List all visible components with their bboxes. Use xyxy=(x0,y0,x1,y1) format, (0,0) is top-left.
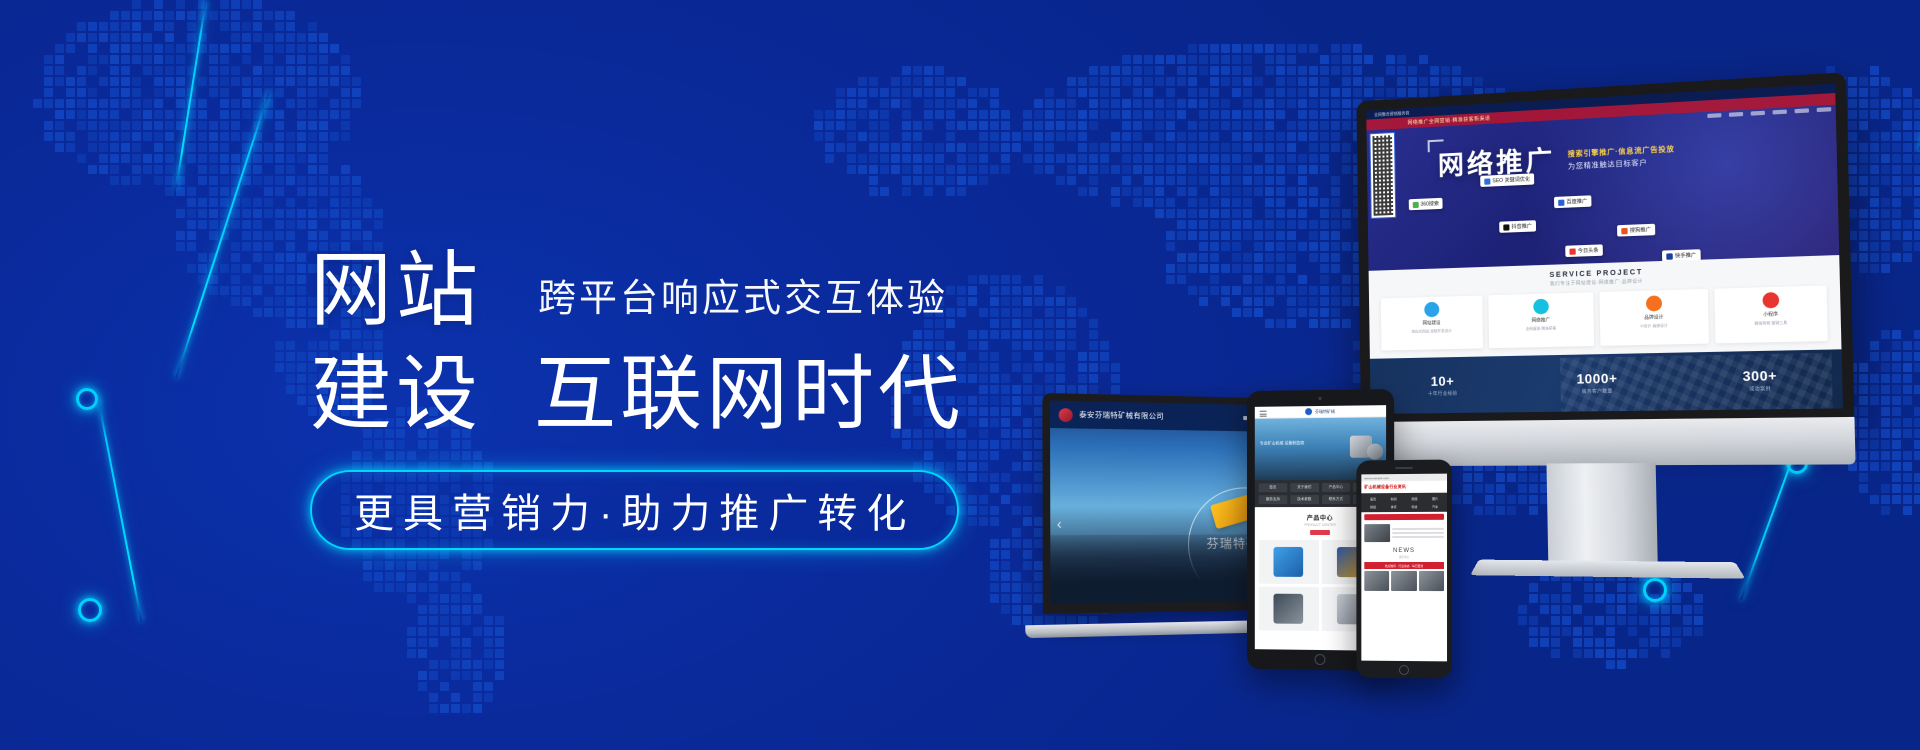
map-dot xyxy=(110,165,119,174)
map-dot xyxy=(1892,451,1901,460)
phone-nav-item: 首页 xyxy=(1363,495,1383,502)
map-dot xyxy=(1045,132,1054,141)
map-dot xyxy=(990,88,999,97)
map-dot xyxy=(1265,44,1274,53)
map-dot xyxy=(297,33,306,42)
map-dot xyxy=(1903,363,1912,372)
map-dot xyxy=(440,704,449,713)
map-dot xyxy=(55,77,64,86)
map-dot xyxy=(1903,220,1912,229)
map-dot xyxy=(979,176,988,185)
map-dot xyxy=(308,132,317,141)
brand-logo-icon xyxy=(1503,224,1509,230)
map-dot xyxy=(1045,143,1054,152)
map-dot xyxy=(847,121,856,130)
map-dot xyxy=(374,583,383,592)
map-dot xyxy=(1287,44,1296,53)
map-dot xyxy=(66,44,75,53)
map-dot xyxy=(1881,451,1890,460)
map-dot xyxy=(1078,88,1087,97)
map-dot xyxy=(1023,594,1032,603)
map-dot xyxy=(1122,77,1131,86)
map-dot xyxy=(1892,176,1901,185)
map-dot xyxy=(88,55,97,64)
map-dot xyxy=(1903,374,1912,383)
map-dot xyxy=(836,99,845,108)
map-dot xyxy=(286,341,295,350)
map-dot xyxy=(220,66,229,75)
map-dot xyxy=(253,220,262,229)
map-dot xyxy=(924,154,933,163)
laptop-site-logo-icon xyxy=(1059,408,1073,422)
monitor-logo-badge: 360搜索 xyxy=(1409,198,1443,211)
brand-logo-icon xyxy=(1413,201,1419,207)
map-dot xyxy=(968,154,977,163)
map-dot xyxy=(297,88,306,97)
map-dot xyxy=(902,176,911,185)
map-dot xyxy=(308,77,317,86)
map-dot xyxy=(935,88,944,97)
map-dot xyxy=(110,44,119,53)
service-card-desc: VI设计 画册设计 xyxy=(1640,324,1668,330)
map-dot xyxy=(198,209,207,218)
map-dot xyxy=(165,55,174,64)
map-dot xyxy=(1210,55,1219,64)
map-dot xyxy=(1892,495,1901,504)
map-dot xyxy=(1914,99,1920,108)
map-dot xyxy=(220,264,229,273)
map-dot xyxy=(132,88,141,97)
map-dot xyxy=(858,154,867,163)
map-dot xyxy=(1870,451,1879,460)
map-dot xyxy=(1254,44,1263,53)
map-dot xyxy=(1023,616,1032,625)
map-dot xyxy=(1045,99,1054,108)
tablet-site-brand: 芬瑞特矿械 xyxy=(1315,408,1335,414)
map-dot xyxy=(1903,451,1912,460)
map-dot xyxy=(253,231,262,240)
map-dot xyxy=(1001,605,1010,614)
map-dot xyxy=(891,88,900,97)
map-dot xyxy=(1914,418,1920,427)
map-dot xyxy=(407,627,416,636)
map-dot xyxy=(440,616,449,625)
map-dot xyxy=(286,33,295,42)
map-dot xyxy=(979,132,988,141)
map-dot xyxy=(231,154,240,163)
map-dot xyxy=(407,583,416,592)
map-dot xyxy=(132,110,141,119)
map-dot xyxy=(1419,55,1428,64)
map-dot xyxy=(308,88,317,97)
map-dot xyxy=(440,682,449,691)
map-dot xyxy=(242,154,251,163)
map-dot xyxy=(847,99,856,108)
monitor-stat-item: 10+ 十年行业经验 xyxy=(1428,373,1458,397)
map-dot xyxy=(1892,99,1901,108)
map-dot xyxy=(869,88,878,97)
map-dot xyxy=(363,231,372,240)
map-dot xyxy=(484,649,493,658)
map-dot xyxy=(902,165,911,174)
map-dot xyxy=(308,55,317,64)
map-dot xyxy=(1892,121,1901,130)
map-dot xyxy=(1892,341,1901,350)
map-dot xyxy=(132,121,141,130)
map-dot xyxy=(165,176,174,185)
map-dot xyxy=(1441,77,1450,86)
map-dot xyxy=(935,66,944,75)
map-dot xyxy=(385,572,394,581)
map-dot xyxy=(220,77,229,86)
map-dot xyxy=(110,88,119,97)
map-dot xyxy=(1397,88,1406,97)
map-dot xyxy=(253,165,262,174)
map-dot xyxy=(1892,187,1901,196)
map-dot xyxy=(1914,220,1920,229)
map-dot xyxy=(1331,44,1340,53)
map-dot xyxy=(187,22,196,31)
map-dot xyxy=(132,143,141,152)
map-dot xyxy=(1265,88,1274,97)
map-dot xyxy=(363,209,372,218)
map-dot xyxy=(308,143,317,152)
map-dot xyxy=(1012,572,1021,581)
map-dot xyxy=(1859,451,1868,460)
map-dot xyxy=(1914,143,1920,152)
map-dot xyxy=(1100,66,1109,75)
map-dot xyxy=(1848,88,1857,97)
map-dot xyxy=(1859,473,1868,482)
map-dot xyxy=(341,176,350,185)
map-dot xyxy=(297,363,306,372)
map-dot xyxy=(1870,220,1879,229)
map-dot xyxy=(187,143,196,152)
map-dot xyxy=(264,308,273,317)
map-dot xyxy=(473,550,482,559)
map-dot xyxy=(1859,110,1868,119)
map-dot xyxy=(1859,242,1868,251)
map-dot xyxy=(143,44,152,53)
map-dot xyxy=(924,110,933,119)
map-dot xyxy=(1386,88,1395,97)
map-dot xyxy=(1232,88,1241,97)
map-dot xyxy=(110,55,119,64)
map-dot xyxy=(165,33,174,42)
monitor-bezel: 全网整合营销服务商 网络推广全网营销·精准获客新渠道 网络推广 搜索引擎推广·信… xyxy=(1356,72,1854,422)
map-dot xyxy=(198,0,207,9)
map-dot xyxy=(187,121,196,130)
map-dot xyxy=(1111,110,1120,119)
map-dot xyxy=(308,209,317,218)
map-dot xyxy=(209,121,218,130)
map-dot xyxy=(1045,154,1054,163)
map-dot xyxy=(209,165,218,174)
slogan-badge: 更具营销力·助力推广转化 xyxy=(310,470,959,550)
map-dot xyxy=(1034,132,1043,141)
map-dot xyxy=(275,341,284,350)
map-dot xyxy=(1870,198,1879,207)
map-dot xyxy=(1122,55,1131,64)
map-dot xyxy=(209,264,218,273)
map-dot xyxy=(1133,88,1142,97)
map-dot xyxy=(429,660,438,669)
map-dot xyxy=(55,121,64,130)
map-dot xyxy=(968,165,977,174)
map-dot xyxy=(231,132,240,141)
map-dot xyxy=(1881,484,1890,493)
map-dot xyxy=(1914,484,1920,493)
phone-article-row xyxy=(1361,522,1447,544)
map-dot xyxy=(1067,77,1076,86)
phone-image-grid xyxy=(1361,571,1447,591)
map-dot xyxy=(88,88,97,97)
map-dot xyxy=(308,33,317,42)
map-dot xyxy=(187,242,196,251)
monitor-stat-value: 300+ xyxy=(1743,368,1778,384)
map-dot xyxy=(209,44,218,53)
map-dot xyxy=(1892,374,1901,383)
monitor-stat-item: 1000+ 服务客户数量 xyxy=(1576,370,1617,395)
map-dot xyxy=(275,363,284,372)
map-dot xyxy=(1892,231,1901,240)
map-dot xyxy=(44,132,53,141)
map-dot xyxy=(1001,132,1010,141)
map-dot xyxy=(297,66,306,75)
map-dot xyxy=(165,88,174,97)
map-dot xyxy=(814,121,823,130)
map-dot xyxy=(253,110,262,119)
map-dot xyxy=(1914,198,1920,207)
hero-text-block: 网站 跨平台响应式交互体验 建设 互联网时代 更具营销力·助力推广转化 xyxy=(310,250,1070,550)
map-dot xyxy=(286,352,295,361)
monitor-service-card: 小程序微信商城 营销工具 xyxy=(1714,285,1828,343)
map-dot xyxy=(1122,99,1131,108)
map-dot xyxy=(1232,44,1241,53)
map-dot xyxy=(1309,66,1318,75)
map-dot xyxy=(121,132,130,141)
map-dot xyxy=(1408,88,1417,97)
map-dot xyxy=(253,33,262,42)
map-dot xyxy=(1012,616,1021,625)
map-dot xyxy=(275,187,284,196)
map-dot xyxy=(1892,165,1901,174)
map-dot xyxy=(187,264,196,273)
map-dot xyxy=(418,638,427,647)
map-dot xyxy=(242,55,251,64)
map-dot xyxy=(352,198,361,207)
map-dot xyxy=(1870,253,1879,262)
map-dot xyxy=(1914,132,1920,141)
map-dot xyxy=(462,616,471,625)
map-dot xyxy=(1870,231,1879,240)
map-dot xyxy=(924,99,933,108)
map-dot xyxy=(1881,143,1890,152)
map-dot xyxy=(440,550,449,559)
map-dot xyxy=(869,77,878,86)
map-dot xyxy=(209,55,218,64)
map-dot xyxy=(55,99,64,108)
map-dot xyxy=(1089,66,1098,75)
map-dot xyxy=(154,22,163,31)
map-dot xyxy=(1892,407,1901,416)
map-dot xyxy=(1254,99,1263,108)
map-dot xyxy=(1914,330,1920,339)
map-dot xyxy=(66,88,75,97)
service-icon xyxy=(1762,292,1779,308)
monitor-logo-badge: SEO 关键词优化 xyxy=(1480,173,1534,187)
phone-nav-item: 图片 xyxy=(1425,495,1445,502)
map-dot xyxy=(429,616,438,625)
map-dot xyxy=(121,143,130,152)
map-dot xyxy=(308,165,317,174)
map-dot xyxy=(1859,220,1868,229)
map-dot xyxy=(825,143,834,152)
map-dot xyxy=(264,143,273,152)
map-dot xyxy=(275,253,284,262)
map-dot xyxy=(275,297,284,306)
map-dot xyxy=(319,209,328,218)
map-dot xyxy=(220,44,229,53)
map-dot xyxy=(330,187,339,196)
map-dot xyxy=(957,187,966,196)
map-dot xyxy=(1914,473,1920,482)
map-dot xyxy=(902,66,911,75)
monitor-stat-label: 十年行业经验 xyxy=(1428,391,1458,398)
map-dot xyxy=(1870,66,1879,75)
map-dot xyxy=(132,77,141,86)
map-dot xyxy=(352,99,361,108)
map-dot xyxy=(418,605,427,614)
map-dot xyxy=(1903,187,1912,196)
phone-highlight-bar: 热点推荐 · 行业动态 · 每日更新 xyxy=(1364,562,1444,569)
map-dot xyxy=(880,165,889,174)
map-dot xyxy=(1034,99,1043,108)
map-dot xyxy=(275,44,284,53)
map-dot xyxy=(1023,154,1032,163)
map-dot xyxy=(924,165,933,174)
map-dot xyxy=(418,561,427,570)
map-dot xyxy=(121,77,130,86)
map-dot xyxy=(1870,176,1879,185)
map-dot xyxy=(319,132,328,141)
map-dot xyxy=(1892,473,1901,482)
map-dot xyxy=(385,583,394,592)
map-dot xyxy=(858,88,867,97)
map-dot xyxy=(1903,154,1912,163)
monitor-hero-sub1: 搜索引擎推广·信息流广告投放 xyxy=(1568,144,1675,160)
phone-site-header: 矿山机械设备行业资讯 xyxy=(1361,481,1447,494)
map-dot xyxy=(968,99,977,108)
map-dot xyxy=(1903,88,1912,97)
map-dot xyxy=(990,572,999,581)
map-dot xyxy=(957,176,966,185)
map-dot xyxy=(1881,462,1890,471)
map-dot xyxy=(242,132,251,141)
map-dot xyxy=(275,286,284,295)
map-dot xyxy=(231,0,240,9)
map-dot xyxy=(1100,110,1109,119)
map-dot xyxy=(814,110,823,119)
map-dot xyxy=(319,77,328,86)
map-dot xyxy=(418,583,427,592)
map-dot xyxy=(198,143,207,152)
map-dot xyxy=(440,594,449,603)
monitor-stats-section: 10+ 十年行业经验 1000+ 服务客户数量 300+ 成功案例 xyxy=(1370,349,1843,414)
map-dot xyxy=(1342,99,1351,108)
map-dot xyxy=(308,187,317,196)
monitor-stand-foot xyxy=(1470,560,1745,579)
map-dot xyxy=(957,77,966,86)
phone-image-cell xyxy=(1391,571,1416,591)
map-dot xyxy=(1914,341,1920,350)
map-dot xyxy=(264,44,273,53)
map-dot xyxy=(1859,462,1868,471)
map-dot xyxy=(1188,44,1197,53)
map-dot xyxy=(1144,88,1153,97)
map-dot xyxy=(1023,121,1032,130)
map-dot xyxy=(418,682,427,691)
map-dot xyxy=(121,44,130,53)
map-dot xyxy=(77,99,86,108)
map-dot xyxy=(979,165,988,174)
map-dot xyxy=(1320,77,1329,86)
map-dot xyxy=(264,11,273,20)
map-dot xyxy=(110,132,119,141)
map-dot xyxy=(99,154,108,163)
map-dot xyxy=(187,209,196,218)
map-dot xyxy=(462,550,471,559)
map-dot xyxy=(440,605,449,614)
map-dot xyxy=(396,561,405,570)
map-dot xyxy=(1903,484,1912,493)
map-dot xyxy=(88,110,97,119)
map-dot xyxy=(473,682,482,691)
map-dot xyxy=(1342,55,1351,64)
map-dot xyxy=(154,143,163,152)
map-dot xyxy=(352,209,361,218)
map-dot xyxy=(297,297,306,306)
map-dot xyxy=(1881,220,1890,229)
map-dot xyxy=(1067,110,1076,119)
map-dot xyxy=(1452,77,1461,86)
map-dot xyxy=(110,121,119,130)
map-dot xyxy=(924,77,933,86)
map-dot xyxy=(495,649,504,658)
map-dot xyxy=(1892,154,1901,163)
map-dot xyxy=(1243,44,1252,53)
map-dot xyxy=(825,110,834,119)
map-dot xyxy=(231,253,240,262)
map-dot xyxy=(1881,330,1890,339)
map-dot xyxy=(484,616,493,625)
map-dot xyxy=(1892,462,1901,471)
map-dot xyxy=(253,99,262,108)
map-dot xyxy=(1287,77,1296,86)
map-dot xyxy=(495,627,504,636)
map-dot xyxy=(209,187,218,196)
map-dot xyxy=(1331,55,1340,64)
map-dot xyxy=(242,209,251,218)
map-dot xyxy=(330,99,339,108)
brand-logo-label: 百度推广 xyxy=(1566,198,1587,206)
map-dot xyxy=(330,220,339,229)
monitor-website-view: 全网整合营销服务商 网络推广全网营销·精准获客新渠道 网络推广 搜索引擎推广·信… xyxy=(1366,83,1843,413)
map-dot xyxy=(319,187,328,196)
map-dot xyxy=(99,22,108,31)
monitor-nav-item xyxy=(1817,107,1832,112)
map-dot xyxy=(1001,165,1010,174)
